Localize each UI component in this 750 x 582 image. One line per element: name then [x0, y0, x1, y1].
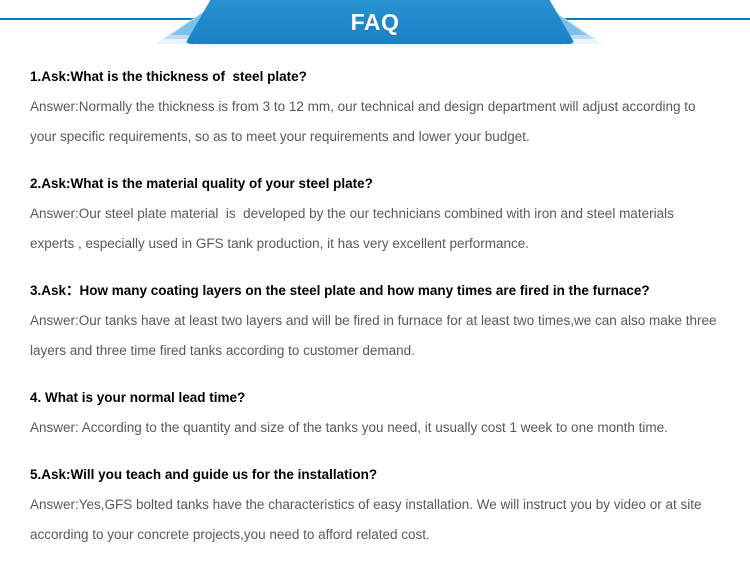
faq-answer: Answer:Yes,GFS bolted tanks have the cha…: [30, 490, 717, 550]
faq-item: 2.Ask:What is the material quality of yo…: [0, 169, 750, 259]
faq-answer: Answer:Our tanks have at least two layer…: [30, 306, 717, 366]
faq-item: 4. What is your normal lead time? Answer…: [0, 383, 750, 443]
faq-list: 1.Ask:What is the thickness of steel pla…: [0, 62, 750, 550]
faq-question: 5.Ask:Will you teach and guide us for th…: [30, 460, 717, 490]
faq-question: 2.Ask:What is the material quality of yo…: [30, 169, 717, 199]
faq-item: 5.Ask:Will you teach and guide us for th…: [0, 460, 750, 550]
faq-question: 4. What is your normal lead time?: [30, 383, 717, 413]
faq-item: 3.Ask：How many coating layers on the ste…: [0, 276, 750, 366]
faq-answer: Answer: According to the quantity and si…: [30, 413, 717, 443]
faq-question: 3.Ask：How many coating layers on the ste…: [30, 276, 717, 306]
faq-header-banner: FAQ: [0, 0, 750, 62]
faq-item: 1.Ask:What is the thickness of steel pla…: [0, 62, 750, 152]
faq-answer: Answer:Normally the thickness is from 3 …: [30, 92, 717, 152]
faq-question: 1.Ask:What is the thickness of steel pla…: [30, 62, 717, 92]
page-title: FAQ: [0, 0, 750, 44]
faq-answer: Answer:Our steel plate material is devel…: [30, 199, 717, 259]
